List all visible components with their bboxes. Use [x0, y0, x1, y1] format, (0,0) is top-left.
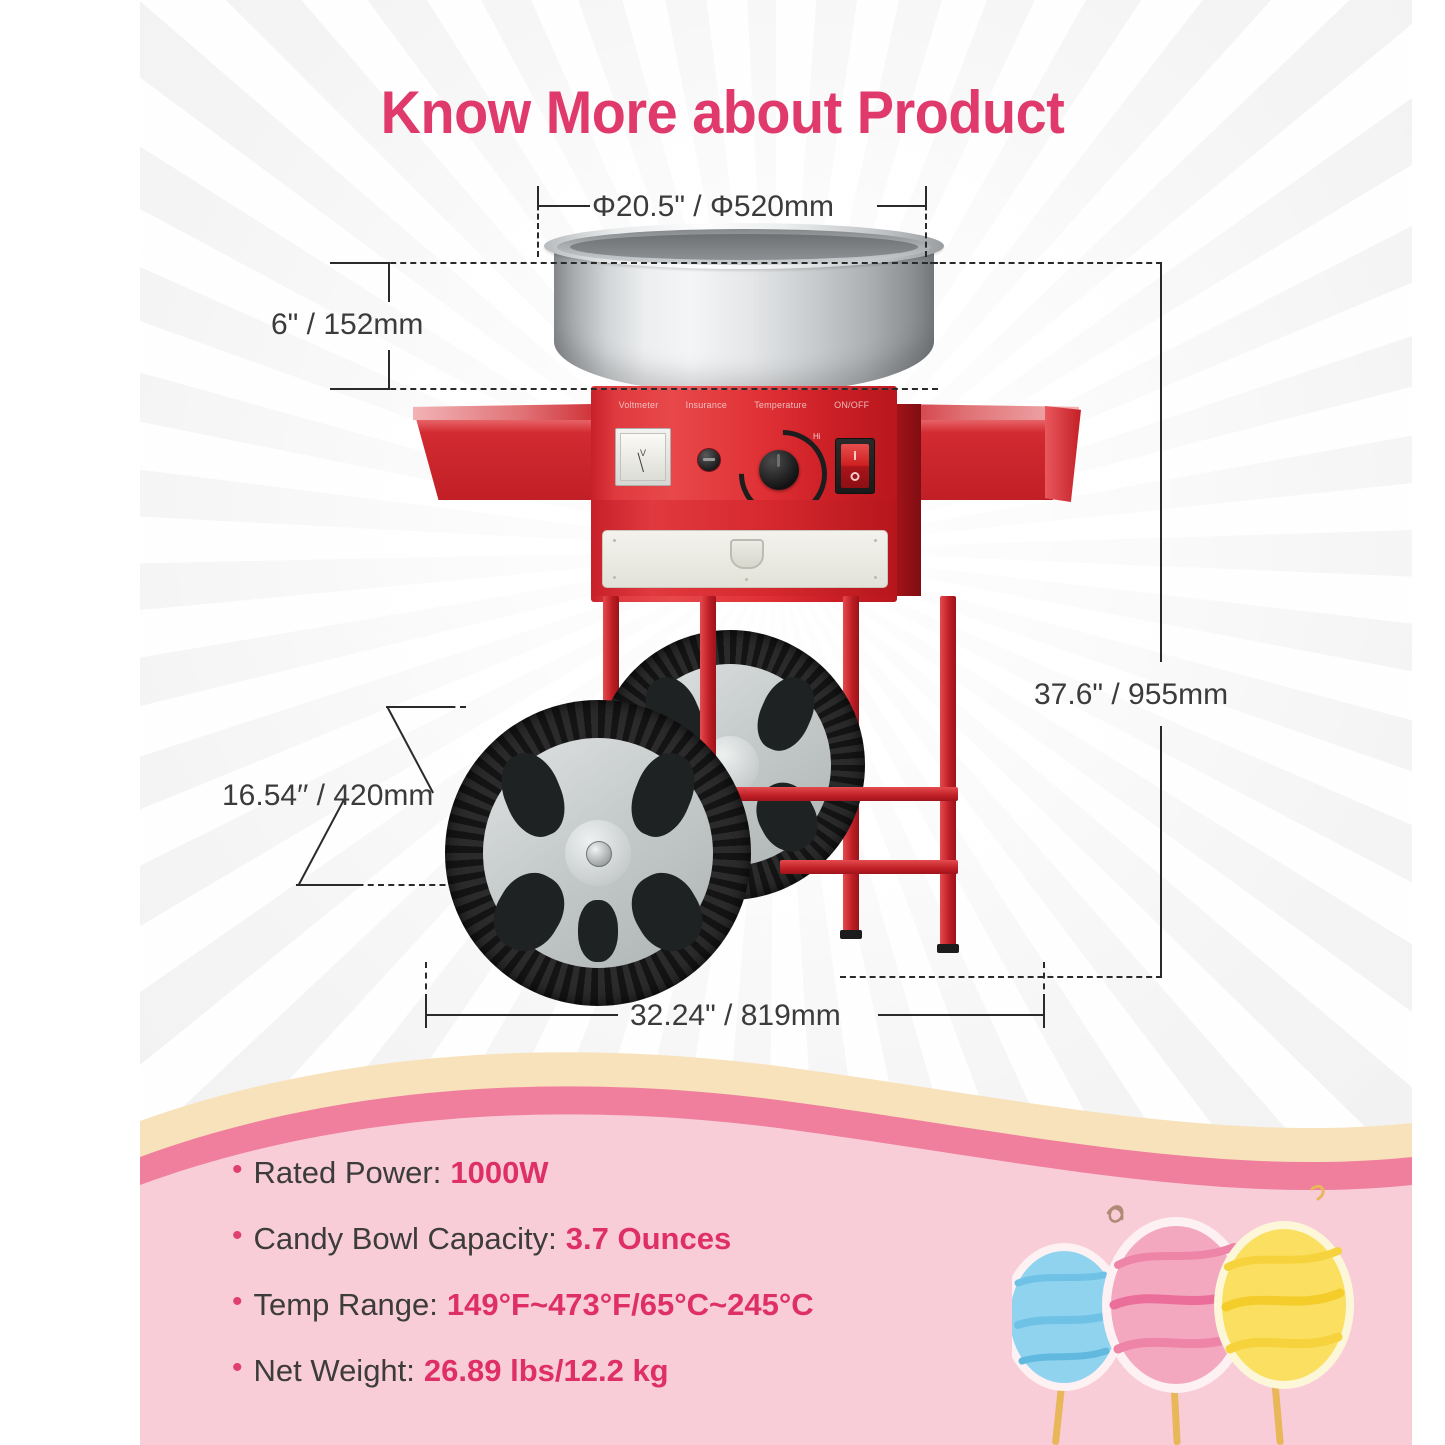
- dim-line-upper: [1160, 262, 1162, 662]
- power-off-icon: [851, 472, 860, 481]
- spec-item-net-weight: • Net Weight: 26.89 lbs/12.2 kg: [232, 1353, 669, 1389]
- dim-cap-bottom: [330, 388, 390, 390]
- fuse-slot: [703, 458, 715, 461]
- right-tray-lip: [1045, 404, 1081, 502]
- dim-line-lower: [388, 350, 390, 388]
- dim-cap-bottom: [296, 884, 362, 886]
- front-hub-hole: [619, 861, 714, 962]
- front-wheel-hub: [483, 738, 713, 968]
- front-hub-hole: [578, 900, 618, 962]
- front-hub-hole: [491, 745, 575, 846]
- spec-item-bowl-capacity: • Candy Bowl Capacity: 3.7 Ounces: [232, 1221, 731, 1257]
- spec-list: • Rated Power: 1000W • Candy Bowl Capaci…: [232, 1145, 1132, 1445]
- cart-cross-brace-lower: [780, 860, 958, 874]
- gauge-face: V: [620, 433, 666, 481]
- spec-panel: • Rated Power: 1000W • Candy Bowl Capaci…: [0, 1025, 1445, 1445]
- product-illustration: Voltmeter Insurance Temperature ON/OFF V…: [140, 0, 1412, 1060]
- dim-cap-top: [386, 706, 452, 708]
- dim-bowl-height-label: 6" / 152mm: [271, 308, 423, 342]
- front-hub-hole: [621, 745, 705, 846]
- drawer-handle[interactable]: [730, 539, 764, 569]
- cart-leg-front-right: [940, 596, 956, 948]
- spec-label: Net Weight:: [254, 1353, 415, 1389]
- drawer-screw: [613, 539, 616, 542]
- label-temperature: Temperature: [754, 400, 807, 410]
- candy-bowl: [544, 223, 944, 398]
- bullet-icon: •: [232, 1221, 243, 1251]
- cabinet-side: [897, 404, 921, 596]
- squiggle-decor-2: [1312, 1186, 1323, 1199]
- dim-ext-top: [930, 262, 1162, 264]
- voltmeter-gauge: V: [615, 428, 671, 486]
- front-wheel-tire: [445, 700, 751, 1006]
- drawer-screw: [745, 578, 748, 581]
- label-voltmeter: Voltmeter: [619, 400, 659, 410]
- cart-foot-front-right: [937, 944, 959, 953]
- left-tray-edge: [413, 404, 595, 420]
- power-switch-rocker: [841, 444, 869, 488]
- power-on-icon: [854, 451, 856, 460]
- dim-ext-bottom: [840, 976, 1162, 978]
- dim-ext-bottom: [330, 388, 938, 390]
- bullet-icon: •: [232, 1353, 243, 1383]
- dim-bowl-diameter-label: Φ20.5" / Φ520mm: [592, 190, 834, 224]
- cart-foot-back-right: [840, 930, 862, 939]
- knob-high-label: Hi: [813, 432, 821, 441]
- front-hub-bolt: [586, 841, 612, 867]
- label-insurance: Insurance: [686, 400, 727, 410]
- knob-indicator-mark: [777, 454, 780, 467]
- rear-hub-hole: [748, 669, 825, 759]
- front-hub-hole: [481, 861, 576, 962]
- dim-ext-top: [330, 262, 938, 264]
- dim-tick-right: [925, 186, 927, 210]
- drawer-screw: [874, 539, 877, 542]
- spec-value: 149°F~473°F/65°C~245°C: [447, 1287, 814, 1323]
- bullet-icon: •: [232, 1287, 243, 1317]
- dim-cap-top: [330, 262, 390, 264]
- spec-value: 3.7 Ounces: [566, 1221, 731, 1257]
- dim-wheel-diameter-label: 16.54′′ / 420mm: [222, 779, 433, 813]
- spec-label: Rated Power:: [254, 1155, 442, 1191]
- power-switch[interactable]: [835, 438, 875, 494]
- dim-line-left: [426, 1014, 618, 1016]
- dim-line-left: [538, 205, 590, 207]
- panel-label-row: Voltmeter Insurance Temperature ON/OFF: [591, 400, 897, 410]
- bowl-inner-deep: [570, 234, 918, 260]
- dim-ext-right: [1043, 962, 1045, 1000]
- dim-line-right: [878, 1014, 1044, 1016]
- gauge-unit-label: V: [621, 448, 665, 458]
- infographic-page: Know More about Product Voltmeter Insura…: [0, 0, 1445, 1445]
- label-on-off: ON/OFF: [834, 400, 869, 410]
- insurance-fuse[interactable]: [697, 448, 721, 472]
- dim-ext-left: [425, 962, 427, 1000]
- storage-drawer[interactable]: [602, 530, 888, 588]
- drawer-screw: [874, 576, 877, 579]
- bullet-icon: •: [232, 1155, 243, 1185]
- spec-item-rated-power: • Rated Power: 1000W: [232, 1155, 549, 1191]
- spec-label: Candy Bowl Capacity:: [254, 1221, 557, 1257]
- dim-total-height-label: 37.6" / 955mm: [1034, 678, 1228, 712]
- dim-line-lower: [1160, 726, 1162, 976]
- temperature-knob[interactable]: [759, 450, 799, 490]
- dim-line-right: [877, 205, 925, 207]
- spec-item-temp-range: • Temp Range: 149°F~473°F/65°C~245°C: [232, 1287, 814, 1323]
- drawer-screw: [613, 576, 616, 579]
- dim-line-upper: [388, 262, 390, 302]
- spec-label: Temp Range:: [254, 1287, 438, 1323]
- spec-value: 1000W: [450, 1155, 548, 1191]
- spec-value: 26.89 lbs/12.2 kg: [424, 1353, 669, 1389]
